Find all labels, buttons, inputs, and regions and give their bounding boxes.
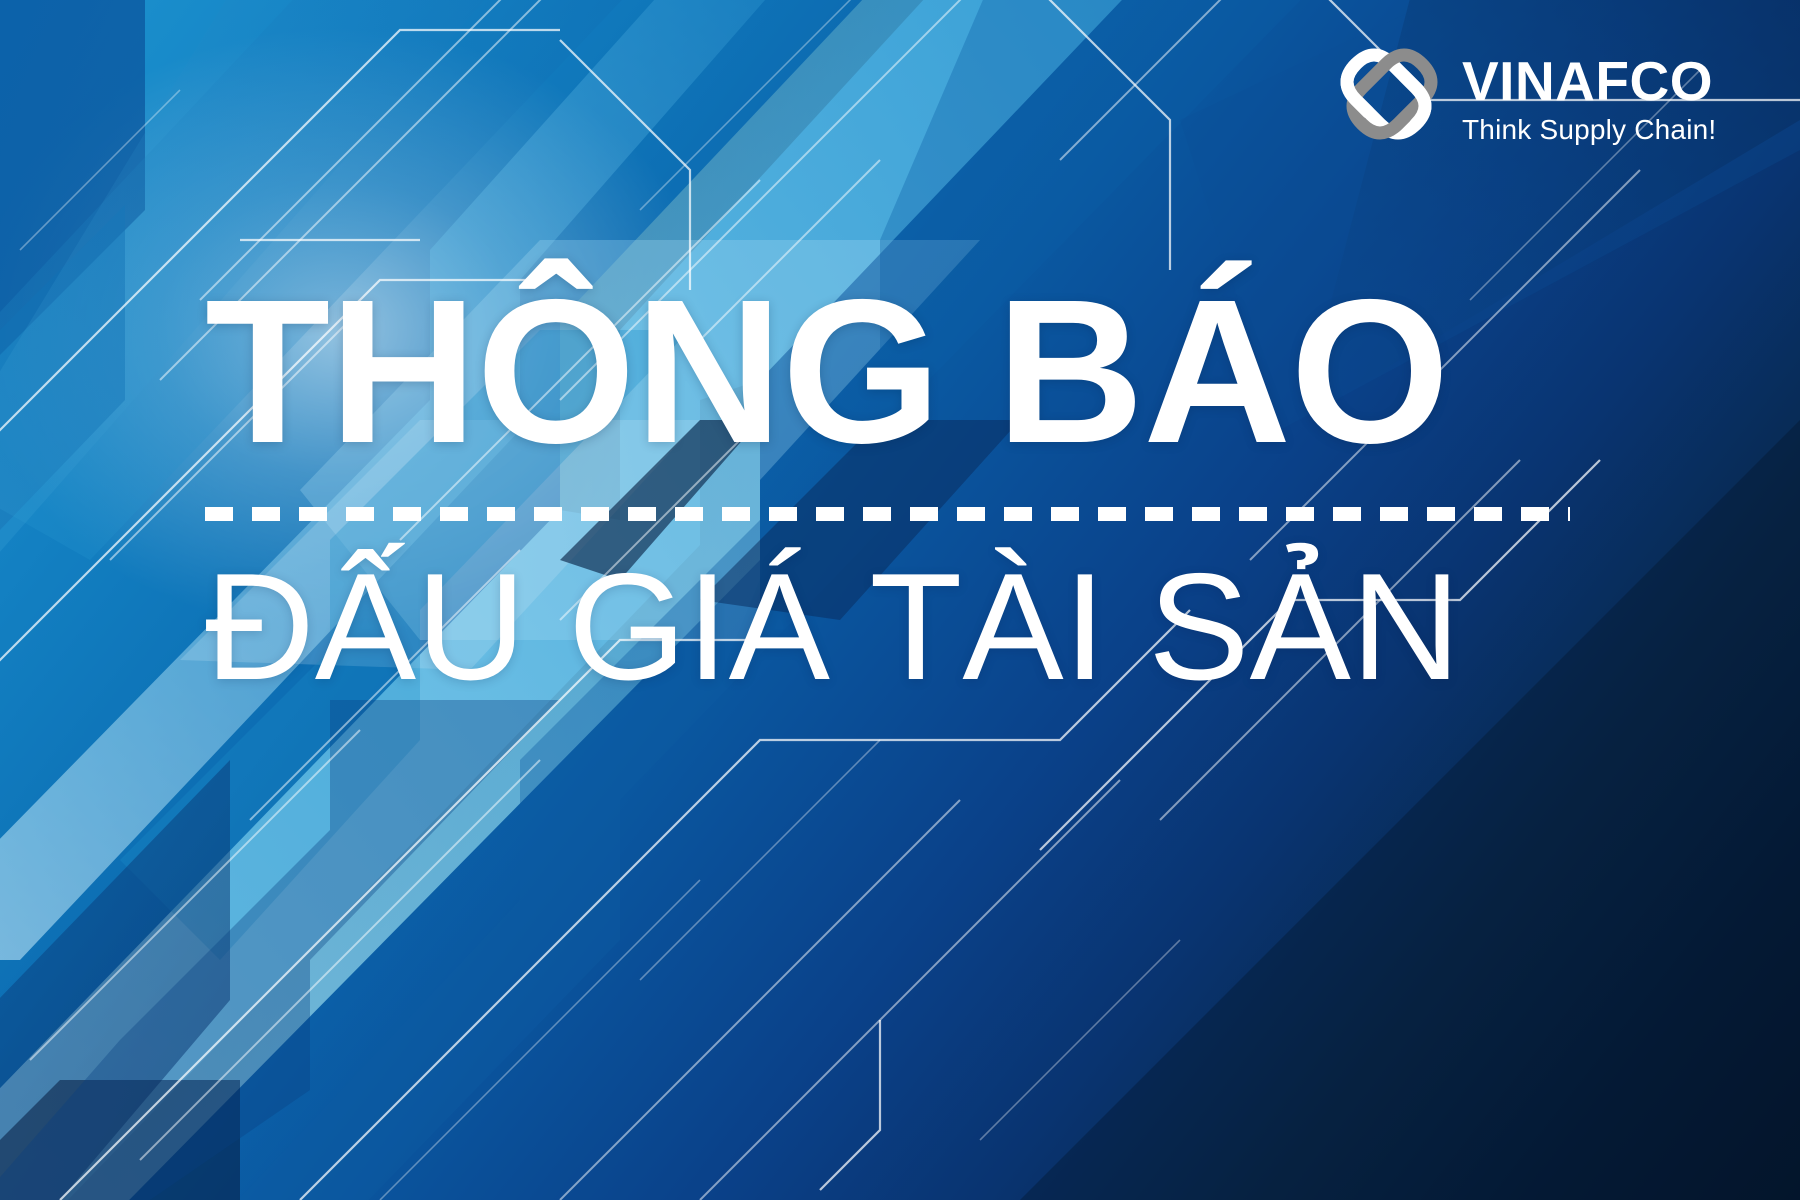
logo-company-name: VINAFCO (1462, 54, 1716, 109)
dashed-divider (205, 507, 1570, 521)
logo-wordmark: VINAFCO Think Supply Chain! (1462, 52, 1716, 144)
logo-tagline: Think Supply Chain! (1462, 116, 1716, 144)
headline-title: THÔNG BÁO (205, 272, 1605, 473)
announcement-banner: VINAFCO Think Supply Chain! THÔNG BÁO ĐẤ… (0, 0, 1800, 1200)
subheadline-title: ĐẤU GIÁ TÀI SẢN (205, 551, 1605, 703)
vinafco-logo[interactable]: VINAFCO Think Supply Chain! (1334, 44, 1716, 152)
headline-block: THÔNG BÁO ĐẤU GIÁ TÀI SẢN (205, 272, 1605, 703)
interlocking-loops-icon (1334, 44, 1444, 152)
